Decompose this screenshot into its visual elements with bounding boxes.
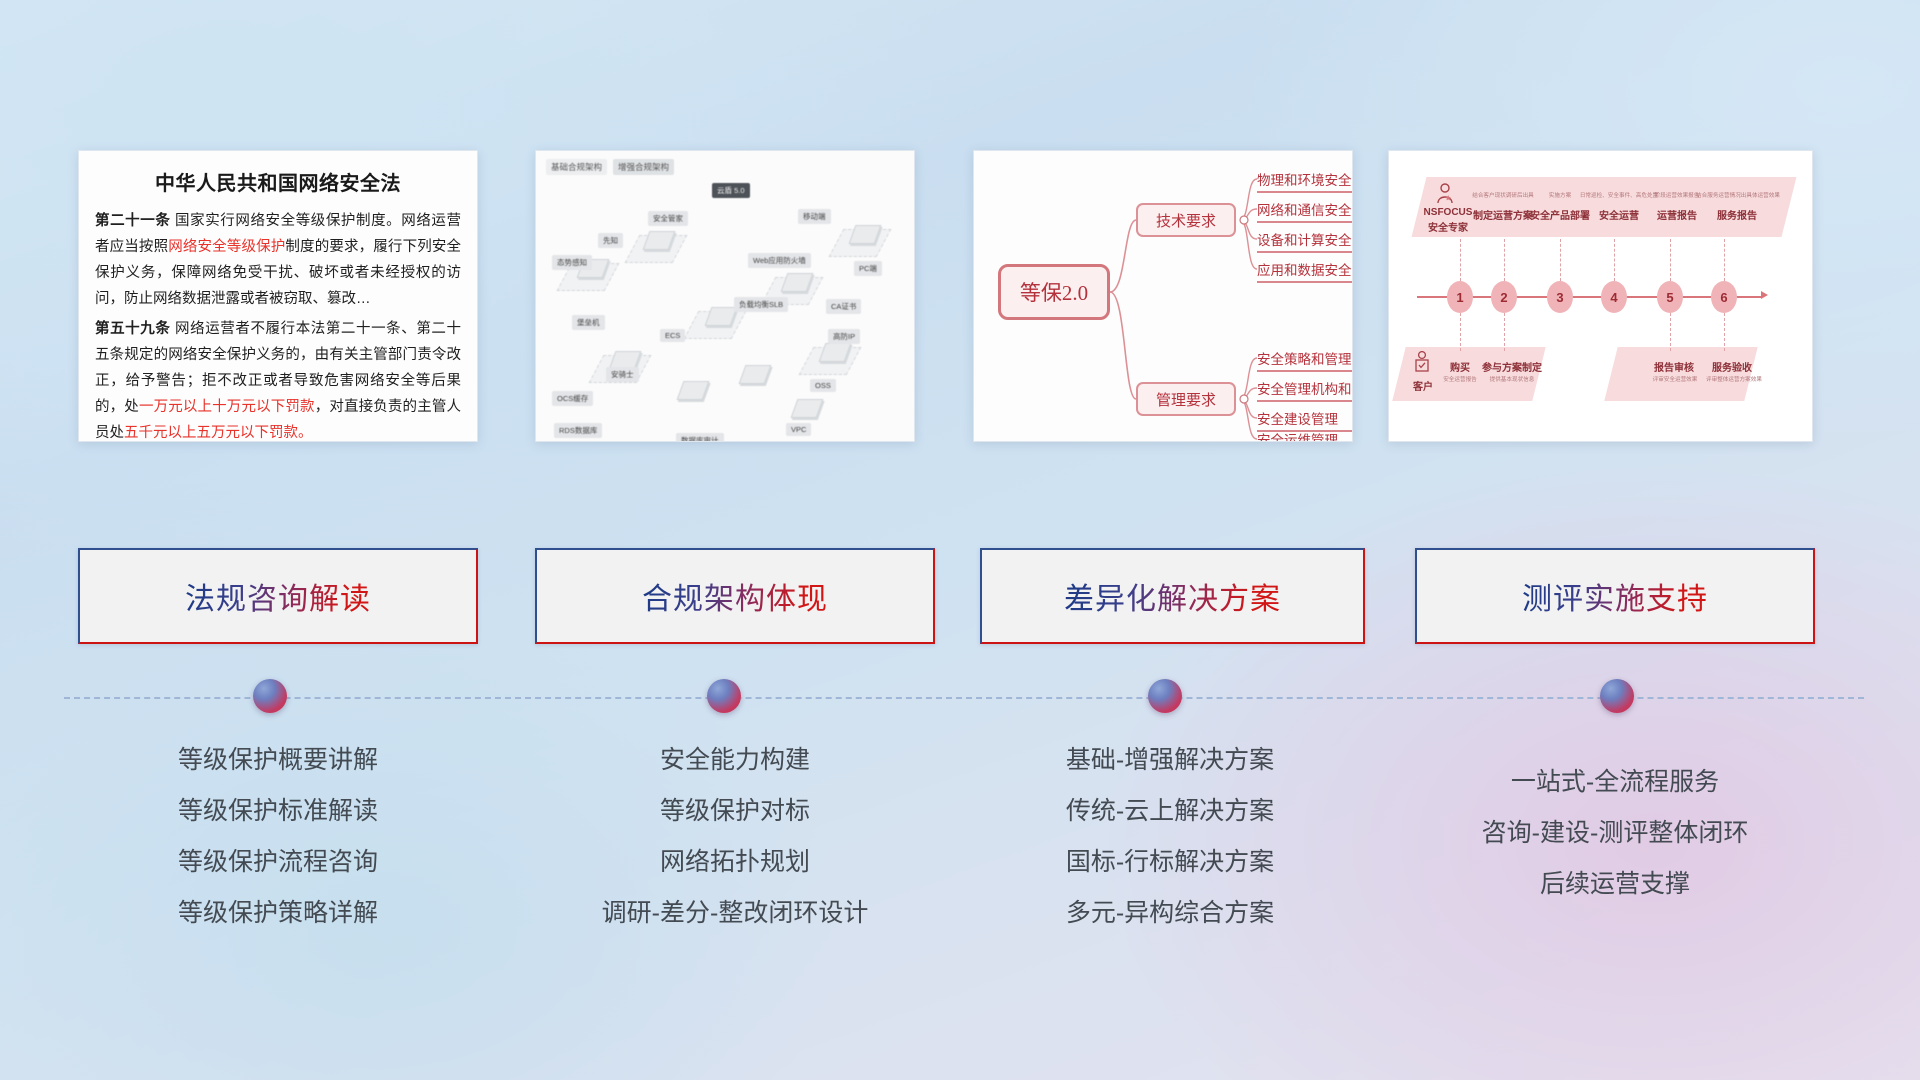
architecture-node-mobile: 移动端 [798, 209, 831, 224]
customer-icon [1413, 351, 1431, 375]
main-timeline-axis [64, 697, 1864, 699]
headings-row: 法规咨询解读 合规架构体现 差异化解决方案 测评实施支持 [0, 548, 1920, 644]
architecture-node-rds: RDS数据库 [554, 423, 602, 438]
architecture-tab-basic[interactable]: 基础合规架构 [546, 159, 607, 175]
mindmap-branch-management: 管理要求 [1136, 382, 1236, 416]
heading-label-1: 法规咨询解读 [185, 574, 371, 618]
card-compliance-architecture: 基础合规架构 增强合规架构 云盾 5.0 安全管家 先知 态势感知 [535, 150, 915, 442]
card-nsfocus-timeline: NSFOCUS 安全专家 客户 1 2 3 4 5 6 [1388, 150, 1813, 442]
mindmap-leaf-ops-mgmt: 安全运维管理 [1257, 429, 1353, 442]
architecture-node-ca-cert: CA证书 [826, 299, 861, 314]
list-item: 国标-行标解决方案 [960, 837, 1380, 888]
architecture-node-db-audit: 数据库审计 [676, 433, 724, 442]
architecture-node-vpc: VPC [786, 423, 811, 436]
list-column-differentiated-solution: 基础-增强解决方案 传统-云上解决方案 国标-行标解决方案 多元-异构综合方案 [960, 735, 1380, 939]
architecture-node-xianzhi: 先知 [598, 233, 623, 248]
timeline-node-2[interactable]: 2 [1491, 281, 1517, 313]
architecture-node-slb: 负载均衡SLB [734, 297, 788, 312]
list-item: 等级保护策略详解 [78, 888, 478, 939]
timeline-title-3: 安全产品部署 [1523, 207, 1597, 222]
timeline-band-bottom-right [1604, 347, 1757, 401]
timeline-node-6[interactable]: 6 [1711, 281, 1737, 313]
law-article-59-highlight-1: 一万元以上十万元以下罚款 [139, 399, 315, 415]
expert-icon [1435, 183, 1455, 205]
law-title: 中华人民共和国网络安全法 [79, 167, 477, 196]
law-article-21-label: 第二十一条 [95, 213, 170, 229]
architecture-node-ocs-cache: OCS缓存 [552, 391, 593, 406]
heading-box-compliance-architecture[interactable]: 合规架构体现 [535, 548, 935, 644]
list-item: 后续运营支撑 [1400, 859, 1830, 910]
list-column-evaluation-support: 一站式-全流程服务 咨询-建设-测评整体闭环 后续运营支撑 [1400, 757, 1830, 910]
mindmap-leaf-physical-env: 物理和环境安全 [1257, 169, 1353, 193]
timeline-marker-1[interactable] [253, 679, 287, 713]
heading-box-differentiated-solution[interactable]: 差异化解决方案 [980, 548, 1365, 644]
architecture-node-pc: PC端 [854, 261, 882, 276]
mindmap: 等保2.0 技术要求 管理要求 物理和环境安全 网络和通信安全 设备和计算安全 … [974, 151, 1352, 441]
architecture-node-ecs: ECS [660, 329, 685, 342]
mindmap-leaf-device-compute: 设备和计算安全 [1257, 229, 1353, 253]
timeline-sub-6: 结合服务运营情况出具体运营效果 [1689, 191, 1787, 199]
mindmap-leaf-network-comm: 网络和通信安全 [1257, 199, 1353, 223]
law-article-59: 第五十九条 网络运营者不履行本法第二十一条、第二十五条规定的网络安全保护义务的，… [95, 316, 461, 442]
timeline-bottom-title-2: 参与方案制定 [1477, 359, 1547, 374]
architecture-node-situation-awareness: 态势感知 [552, 255, 592, 270]
card-mindmap-dengbao: 等保2.0 技术要求 管理要求 物理和环境安全 网络和通信安全 设备和计算安全 … [973, 150, 1353, 442]
timeline-node-4[interactable]: 4 [1601, 281, 1627, 313]
architecture-tab-enhanced[interactable]: 增强合规架构 [613, 159, 674, 175]
card-cybersecurity-law: 中华人民共和国网络安全法 第二十一条 国家实行网络安全等级保护制度。网络运营者应… [78, 150, 478, 442]
timeline-arrow-icon [1761, 291, 1768, 299]
list-item: 网络拓扑规划 [535, 837, 935, 888]
mindmap-leaf-policy-system: 安全策略和管理制度 [1257, 348, 1353, 372]
law-body: 第二十一条 国家实行网络安全等级保护制度。网络运营者应当按照网络安全等级保护制度… [79, 208, 477, 442]
heading-box-evaluation-support[interactable]: 测评实施支持 [1415, 548, 1815, 644]
list-item: 等级保护标准解读 [78, 786, 478, 837]
architecture-node-bastion-host: 堡垒机 [572, 315, 605, 330]
timeline-node-3[interactable]: 3 [1547, 281, 1573, 313]
timeline-marker-2[interactable] [707, 679, 741, 713]
architecture-node-oss: OSS [810, 379, 836, 392]
list-item: 一站式-全流程服务 [1400, 757, 1830, 808]
timeline-title-6: 服务报告 [1705, 207, 1769, 222]
cards-row: 中华人民共和国网络安全法 第二十一条 国家实行网络安全等级保护制度。网络运营者应… [0, 150, 1920, 442]
law-article-59-highlight-2: 五千元以上五万元以下罚款。 [124, 425, 313, 441]
list-item: 传统-云上解决方案 [960, 786, 1380, 837]
mindmap-leaf-app-data: 应用和数据安全 [1257, 259, 1353, 283]
list-item: 基础-增强解决方案 [960, 735, 1380, 786]
mindmap-root-node: 等保2.0 [998, 264, 1110, 320]
list-item: 调研-差分-整改闭环设计 [535, 888, 935, 939]
architecture-diagram: 基础合规架构 增强合规架构 云盾 5.0 安全管家 先知 态势感知 [536, 151, 914, 441]
list-item: 等级保护对标 [535, 786, 935, 837]
timeline-marker-4[interactable] [1600, 679, 1634, 713]
architecture-node-anti-ddos: 高防IP [828, 329, 860, 344]
heading-label-2: 合规架构体现 [642, 574, 828, 618]
timeline-bottom-title-5: 报告审核 [1645, 359, 1703, 374]
list-item: 咨询-建设-测评整体闭环 [1400, 808, 1830, 859]
list-item: 多元-异构综合方案 [960, 888, 1380, 939]
list-item: 等级保护流程咨询 [78, 837, 478, 888]
list-column-compliance-architecture: 安全能力构建 等级保护对标 网络拓扑规划 调研-差分-整改闭环设计 [535, 735, 935, 939]
timeline-bottom-title-6: 服务验收 [1703, 359, 1761, 374]
service-timeline: NSFOCUS 安全专家 客户 1 2 3 4 5 6 [1389, 151, 1812, 441]
timeline-title-4: 安全运营 [1587, 207, 1651, 222]
timeline-bottom-sub-2: 提供基本现状信息 [1475, 375, 1549, 383]
list-column-regulation-consulting: 等级保护概要讲解 等级保护标准解读 等级保护流程咨询 等级保护策略详解 [78, 735, 478, 939]
list-item: 等级保护概要讲解 [78, 735, 478, 786]
timeline-title-5: 运营报告 [1645, 207, 1709, 222]
architecture-node-anqishi: 安骑士 [606, 367, 639, 382]
law-article-21-highlight: 网络安全等级保护 [168, 239, 285, 255]
architecture-tabs: 基础合规架构 增强合规架构 [546, 159, 674, 175]
mindmap-branch-technical: 技术要求 [1136, 203, 1236, 237]
timeline-node-5[interactable]: 5 [1657, 281, 1683, 313]
timeline-node-1[interactable]: 1 [1447, 281, 1473, 313]
law-article-59-label: 第五十九条 [95, 321, 170, 337]
heading-label-3: 差异化解决方案 [1064, 574, 1281, 618]
architecture-node-cloud-shield: 云盾 5.0 [712, 183, 750, 198]
architecture-node-waf: Web应用防火墙 [748, 253, 811, 268]
heading-label-4: 测评实施支持 [1522, 574, 1708, 618]
timeline-marker-3[interactable] [1148, 679, 1182, 713]
heading-box-regulation-consulting[interactable]: 法规咨询解读 [78, 548, 478, 644]
law-article-21: 第二十一条 国家实行网络安全等级保护制度。网络运营者应当按照网络安全等级保护制度… [95, 208, 461, 312]
architecture-node-security-butler: 安全管家 [648, 211, 688, 226]
mindmap-leaf-org-personnel: 安全管理机构和人员 [1257, 378, 1353, 402]
list-item: 安全能力构建 [535, 735, 935, 786]
timeline-bottom-sub-6: 评审整体运营方案效果 [1695, 375, 1773, 383]
